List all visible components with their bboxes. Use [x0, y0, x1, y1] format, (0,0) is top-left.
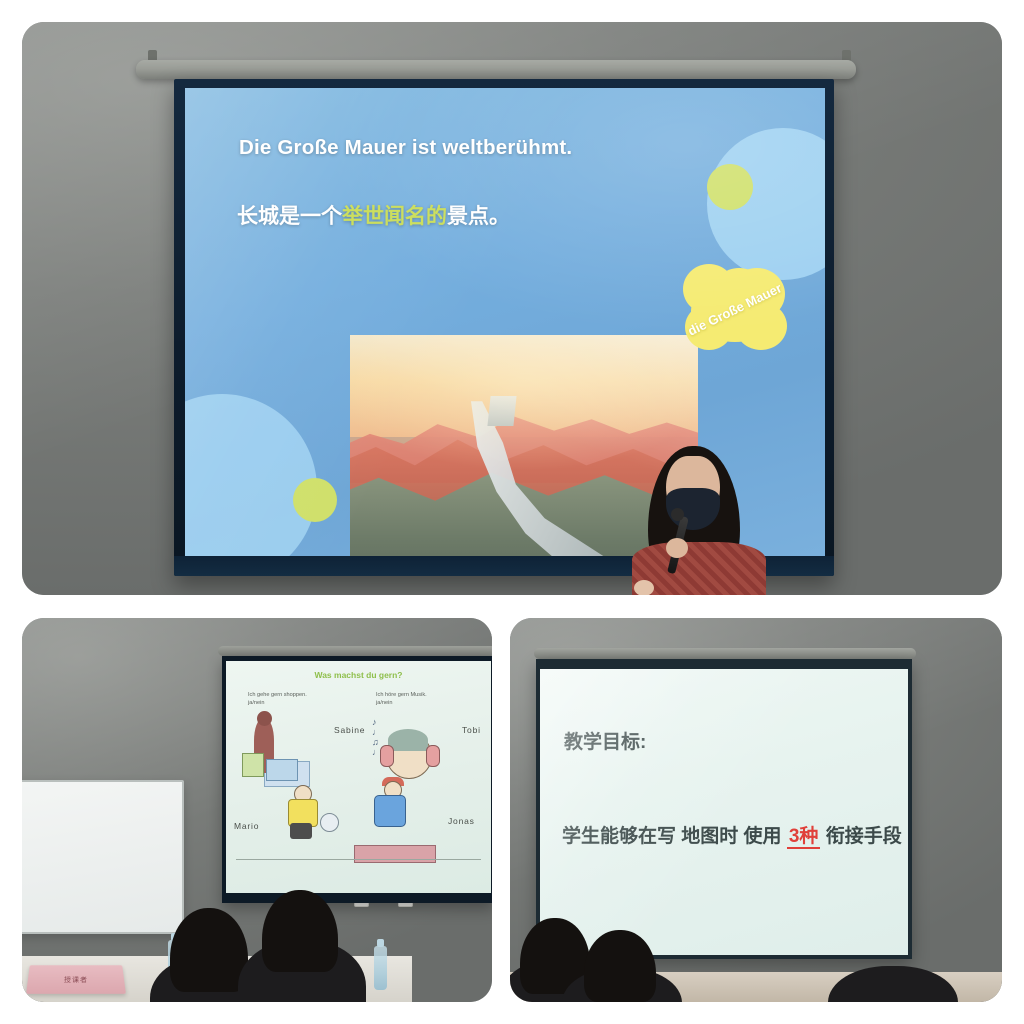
- collage-panel-top: Die Große Mauer ist weltberühmt. 长城是一个举世…: [22, 22, 1002, 595]
- slide-surface-bl: Was machst du gern? Ich gehe gern shoppe…: [226, 661, 491, 893]
- subtitle-prefix: 长城是一个: [237, 205, 342, 228]
- headphone-cup-right: [426, 745, 440, 767]
- objective-body-suffix: 衔接手段: [820, 826, 901, 847]
- figure-name-jonas: Jonas: [448, 816, 475, 826]
- name-card-text: 授课者: [64, 975, 88, 985]
- subtitle-suffix: 景点。: [447, 205, 510, 228]
- doodle-music-hair: [388, 729, 428, 751]
- cloud-callout: die Große Mauer: [681, 262, 789, 358]
- figure-name-mario: Mario: [234, 821, 259, 831]
- microphone-head: [671, 508, 684, 521]
- doodle-shopping-bag-blue: [266, 759, 298, 781]
- objective-body: 学生能够在写 地图时 使用 3种 衔接手段: [562, 821, 902, 848]
- caption-shoppen: Ich gehe gern shoppen. ja/nein: [248, 691, 307, 708]
- presenter-hand: [666, 538, 688, 558]
- objective-heading: 教学目标:: [564, 727, 646, 754]
- headphone-cup-left: [380, 745, 394, 767]
- collage-panel-bottom-left: Was machst du gern? Ich gehe gern shoppe…: [22, 618, 492, 1002]
- photo-collage: Die Große Mauer ist weltberühmt. 长城是一个举世…: [0, 0, 1024, 1024]
- objective-body-highlight: 3种: [787, 826, 821, 849]
- projection-screen-bl: Was machst du gern? Ich gehe gern shoppe…: [222, 656, 492, 903]
- doodle-soccer-ball: [320, 813, 339, 832]
- projector-screen-roller: [136, 60, 856, 79]
- projector-screen-roller-br: [534, 648, 916, 659]
- slide-title-german: Die Große Mauer ist weltberühmt.: [239, 136, 572, 160]
- caption-musik: Ich höre gern Musik. ja/nein: [376, 691, 427, 708]
- projection-screen-br: 教学目标: 学生能够在写 地图时 使用 3种 衔接手段: [536, 659, 912, 959]
- screen-glare-br: [540, 669, 908, 955]
- slide-surface-br: 教学目标: 学生能够在写 地图时 使用 3种 衔接手段: [540, 669, 908, 955]
- doodle-runner-shirt: [374, 795, 406, 827]
- deco-circle-green-topright: [707, 164, 753, 210]
- water-bottle-2: [374, 946, 387, 990]
- subtitle-highlight: 举世闻名的: [342, 205, 447, 228]
- doodle-soccer-shorts: [290, 823, 312, 839]
- figure-name-tobias: Tobi: [462, 725, 481, 735]
- doodle-shopping-bag-green: [242, 753, 264, 777]
- slide-subtitle-chinese: 长城是一个举世闻名的景点。: [237, 200, 510, 230]
- presenter-hand-2: [634, 580, 654, 595]
- slide-title-bl: Was machst du gern?: [314, 670, 402, 680]
- collage-panel-bottom-right: 教学目标: 学生能够在写 地图时 使用 3种 衔接手段: [510, 618, 1002, 1002]
- music-notes: ♪ ♩ ♫ ♩: [372, 717, 381, 757]
- name-card: 授课者: [26, 965, 126, 994]
- projector-screen-roller-bl: [218, 646, 492, 656]
- doodle-shopper-head: [257, 711, 272, 726]
- deco-circle-blue-bottomleft: [185, 394, 317, 556]
- slide-baseline: [236, 859, 481, 860]
- whiteboard: [22, 780, 184, 934]
- presenter-main: [622, 446, 782, 595]
- objective-body-prefix: 学生能够在写 地图时 使用: [562, 826, 787, 847]
- figure-name-sabine: Sabine: [334, 725, 365, 735]
- deco-circle-green-bottomleft: [293, 478, 337, 522]
